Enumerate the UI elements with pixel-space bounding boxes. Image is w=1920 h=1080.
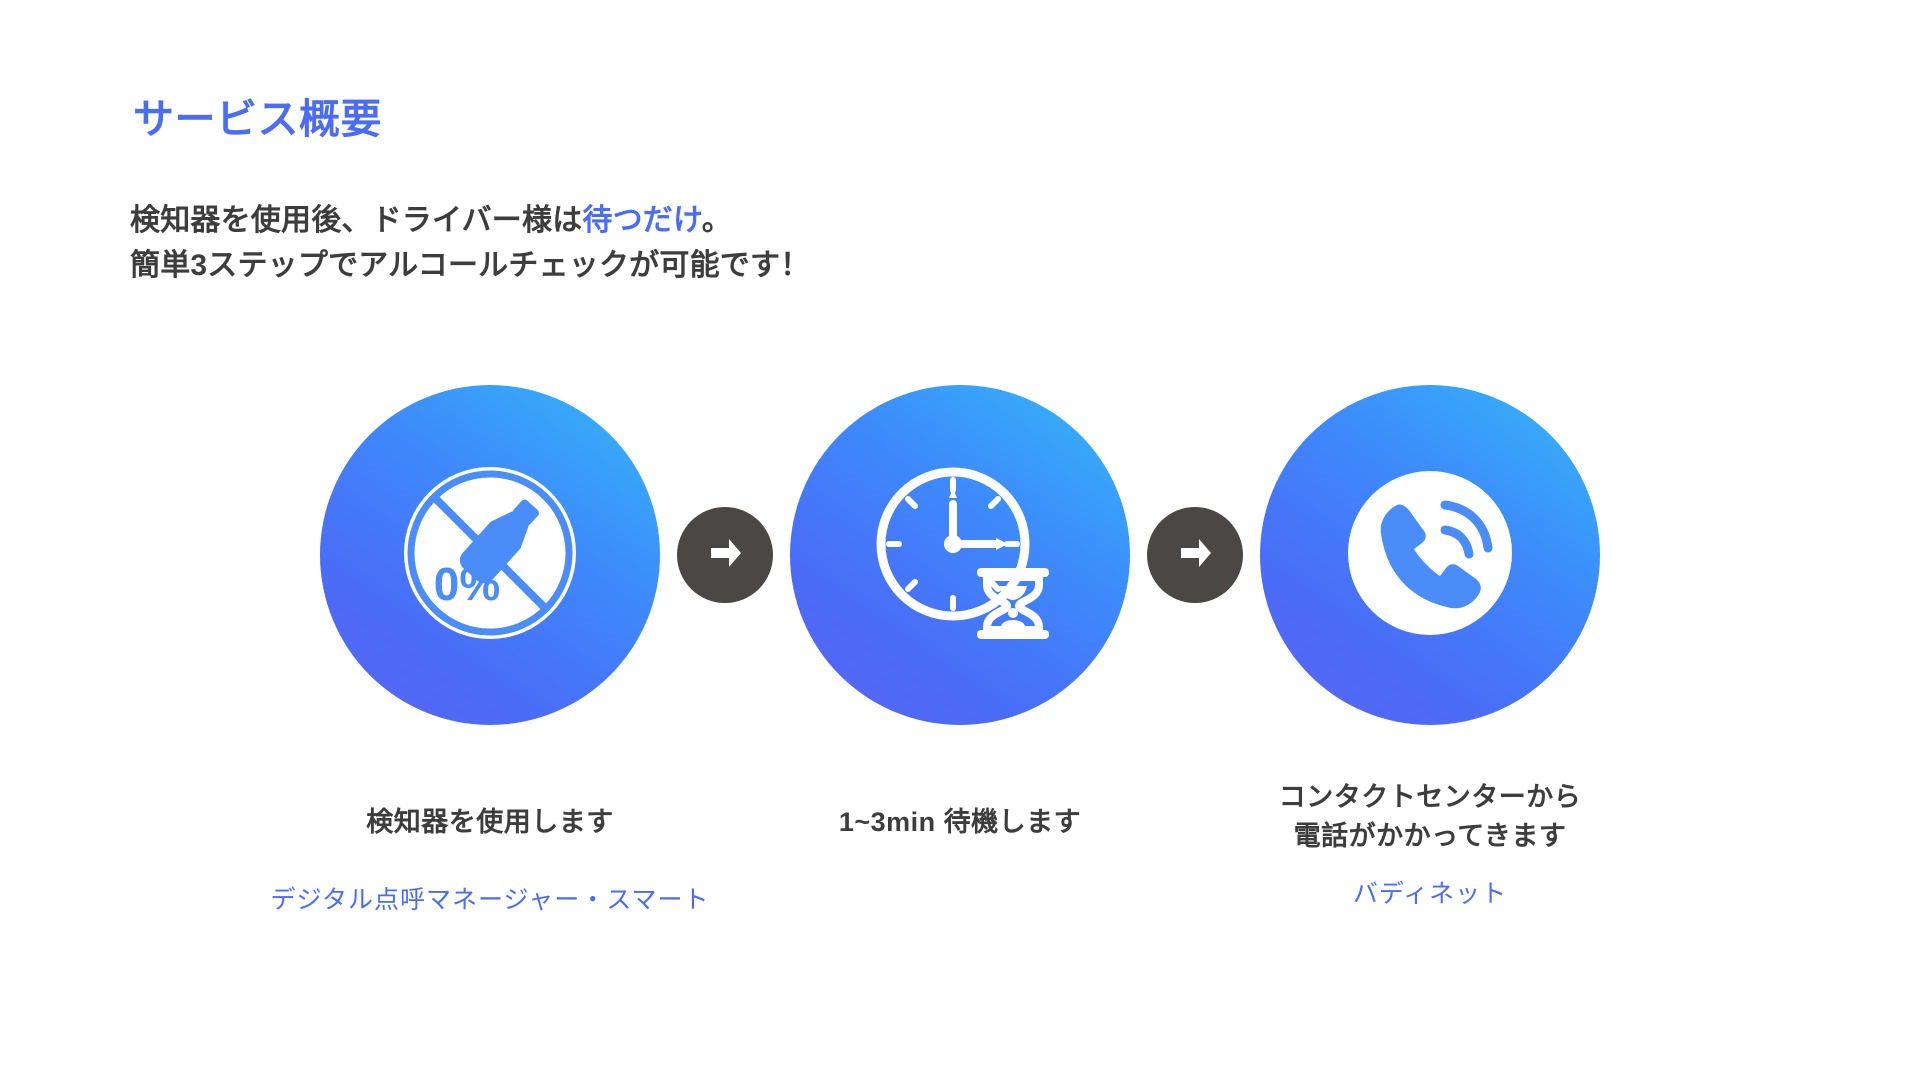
arrow-right-icon (1171, 529, 1219, 582)
steps-row: 0% 検知器を使用します デジタル点呼マネージャー・スマート (0, 385, 1920, 805)
subtitle-line-1: 検知器を使用後、ドライバー様は待つだけ。 (130, 198, 810, 243)
page-title: サービス概要 (133, 95, 382, 144)
subtitle-line-2: 簡単3ステップでアルコールチェックが可能です！ (130, 243, 810, 288)
connector-1 (665, 385, 785, 725)
arrow-right-icon (701, 529, 749, 582)
step-item-1: 0% 検知器を使用します デジタル点呼マネージャー・スマート (315, 385, 665, 916)
no-alcohol-bottle-icon: 0% (395, 458, 585, 653)
step-1-sublabel: デジタル点呼マネージャー・スマート (271, 880, 710, 916)
step-2-caption: 1~3min 待機します (839, 803, 1081, 842)
subtitle-line-1-accent: 待つだけ (582, 204, 701, 237)
phone-ringing-icon (1335, 458, 1525, 653)
step-1-caption: 検知器を使用します (366, 803, 614, 842)
connector-2 (1135, 385, 1255, 725)
clock-hourglass-icon (865, 458, 1055, 653)
arrow-right-badge-1 (677, 507, 773, 603)
slide-root: サービス概要 検知器を使用後、ドライバー様は待つだけ。 簡単3ステップでアルコー… (0, 0, 1920, 1080)
step-3-circle (1260, 385, 1600, 725)
subtitle-block: 検知器を使用後、ドライバー様は待つだけ。 簡単3ステップでアルコールチェックが可… (130, 198, 810, 288)
step-2-circle (790, 385, 1130, 725)
step-item-3: コンタクトセンターから 電話がかかってきます バディネット (1255, 385, 1605, 910)
step-item-2: 1~3min 待機します (785, 385, 1135, 880)
step-1-circle: 0% (320, 385, 660, 725)
step-3-caption: コンタクトセンターから 電話がかかってきます (1279, 778, 1582, 856)
heading-block: サービス概要 (133, 95, 382, 144)
arrow-right-badge-2 (1147, 507, 1243, 603)
subtitle-line-1-before: 検知器を使用後、ドライバー様は (130, 204, 582, 237)
subtitle-line-1-after: 。 (702, 204, 732, 237)
svg-text:0%: 0% (434, 558, 500, 610)
step-3-sublabel: バディネット (1353, 874, 1507, 910)
